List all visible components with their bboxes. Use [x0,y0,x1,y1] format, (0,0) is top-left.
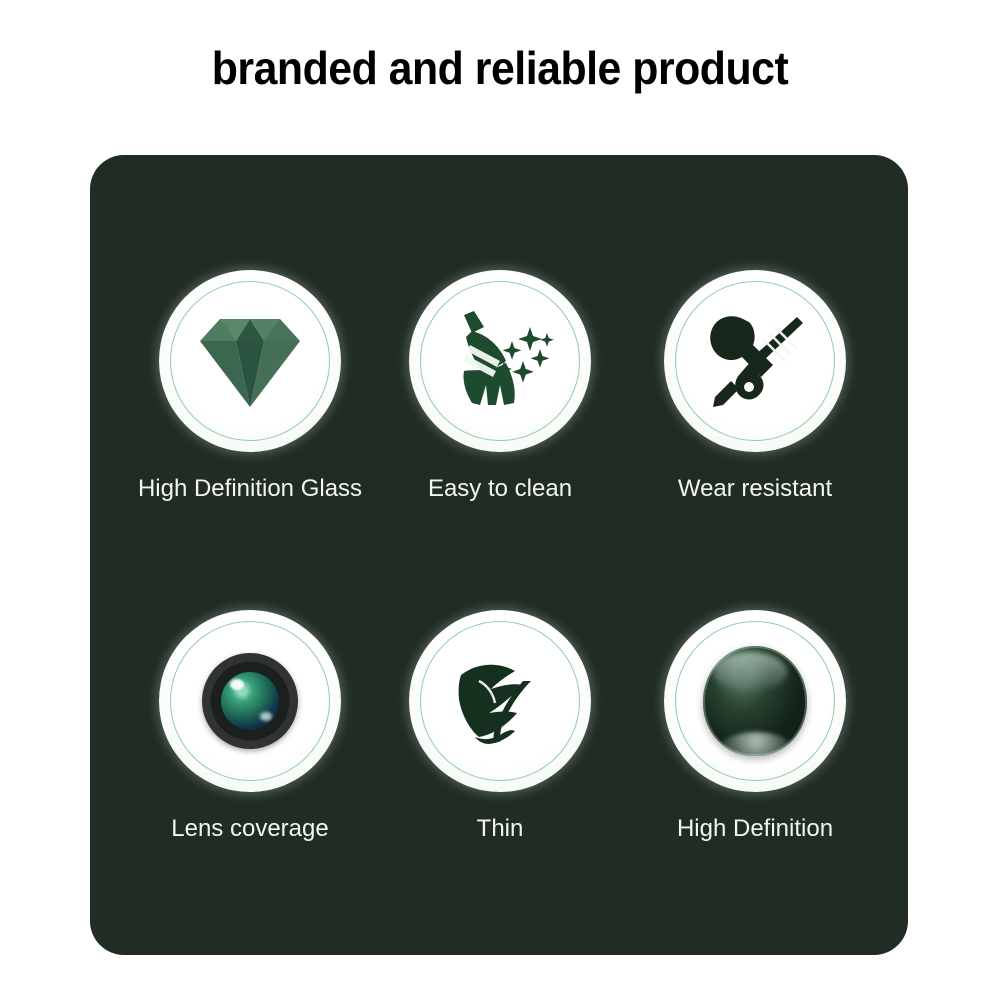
feature-label: Lens coverage [130,814,370,844]
wrench-screwdriver-icon [703,311,807,411]
camera-lens-icon [202,653,298,749]
glossy-sphere-icon [703,646,807,756]
feature-label: High Definition [635,814,875,844]
icon-badge [664,270,846,452]
feature-label: Easy to clean [380,474,620,504]
feather-icon [445,651,555,751]
icon-badge [409,610,591,792]
feature-label: Thin [380,814,620,844]
feature-item-thin[interactable]: Thin [380,610,620,844]
broom-sparkle-icon [444,309,556,413]
feature-item-easy-to-clean[interactable]: Easy to clean [380,270,620,504]
lens-glass [221,672,279,730]
diamond-icon [198,313,302,409]
icon-badge [409,270,591,452]
icon-badge [664,610,846,792]
feature-label: Wear resistant [635,474,875,504]
page-title: branded and reliable product [35,40,965,96]
icon-badge [159,610,341,792]
feature-item-high-definition[interactable]: High Definition [635,610,875,844]
feature-item-wear-resistant[interactable]: Wear resistant [635,270,875,504]
icon-badge [159,270,341,452]
feature-item-high-definition-glass[interactable]: High Definition Glass [130,270,370,504]
features-grid: High Definition Glass [90,155,908,955]
feature-label: High Definition Glass [130,474,370,504]
features-panel: High Definition Glass [90,155,908,955]
product-feature-poster: branded and reliable product [0,0,1000,1000]
feature-item-lens-coverage[interactable]: Lens coverage [130,610,370,844]
